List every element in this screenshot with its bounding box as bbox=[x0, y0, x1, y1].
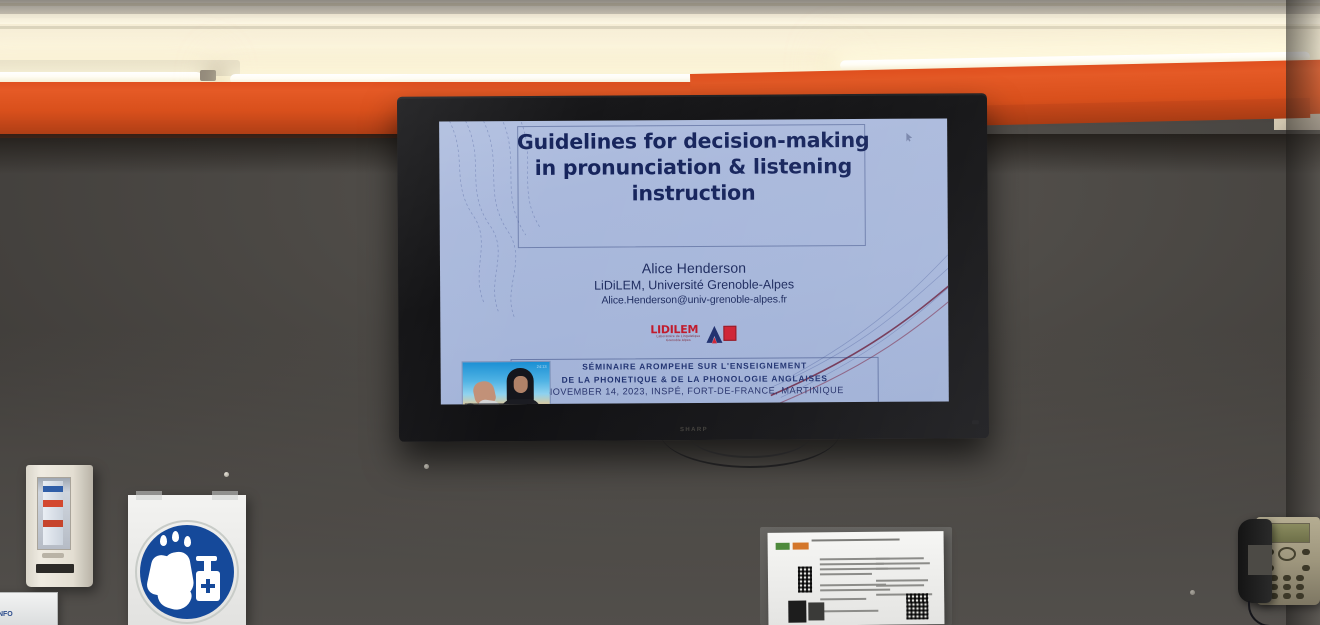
dispenser-drip-slot bbox=[36, 564, 74, 573]
poster-text-line bbox=[876, 579, 928, 581]
phone-navigation-cluster[interactable] bbox=[1278, 547, 1296, 561]
webcam-participant-label: alice henderson bbox=[465, 403, 504, 404]
wall-mounted-television[interactable]: Guidelines for decision-making in pronun… bbox=[397, 93, 989, 442]
poster-thumbnail-1 bbox=[788, 601, 806, 623]
dispenser-label-stripe-red-2 bbox=[43, 520, 63, 527]
poster-qr-code-right bbox=[906, 593, 928, 619]
sign-tape-right bbox=[212, 491, 238, 500]
phone-keypad-key[interactable] bbox=[1296, 575, 1304, 581]
poster-thumbnail-2 bbox=[808, 602, 824, 620]
lidilem-secondary-mark-icon bbox=[723, 326, 736, 341]
poster-text-line bbox=[876, 567, 920, 569]
dispenser-view-window bbox=[37, 477, 71, 550]
poster-text-line bbox=[876, 562, 930, 564]
conference-info: SÉMINAIRE AROMPEHE SUR L'ENSEIGNEMENT DE… bbox=[511, 359, 879, 399]
phone-handset[interactable] bbox=[1238, 519, 1272, 603]
webcam-person-body bbox=[501, 399, 541, 405]
poster-text-line bbox=[820, 563, 884, 565]
ceiling-seam-2 bbox=[0, 26, 1320, 29]
room-scene: Guidelines for decision-making in pronun… bbox=[0, 0, 1320, 625]
dispenser-label-stripe-red bbox=[43, 500, 63, 507]
poster-heading-rule bbox=[812, 539, 900, 542]
tube-cap-left bbox=[200, 70, 216, 81]
sign-blue-disc bbox=[140, 525, 234, 619]
phone-keypad-key[interactable] bbox=[1283, 575, 1291, 581]
tv-ir-receiver-icon bbox=[972, 420, 979, 424]
webcam-video-tile[interactable]: 24:13 alice henderson bbox=[462, 361, 551, 405]
ceiling-edge-lower bbox=[0, 14, 1320, 24]
poster-logo-icon-1 bbox=[776, 543, 790, 550]
soap-cross-icon-horizontal bbox=[201, 584, 215, 588]
phone-softkey[interactable] bbox=[1302, 549, 1310, 555]
wall-screw-2 bbox=[424, 464, 429, 469]
presentation-slide: Guidelines for decision-making in pronun… bbox=[439, 118, 949, 404]
fluorescent-tube-left bbox=[0, 72, 202, 82]
slide-title: Guidelines for decision-making in pronun… bbox=[439, 126, 947, 207]
author-block: Alice Henderson LiDiLEM, Université Gren… bbox=[440, 258, 948, 309]
wall-screw-1 bbox=[224, 472, 229, 477]
water-drop-icon-1 bbox=[160, 535, 167, 546]
desk-phone[interactable] bbox=[1238, 513, 1320, 608]
poster-text-line bbox=[820, 589, 890, 591]
poster-text-line bbox=[876, 584, 924, 586]
poster-text-line bbox=[820, 573, 872, 575]
phone-keypad-key[interactable] bbox=[1283, 584, 1291, 590]
author-email: Alice.Henderson@univ-grenoble-alpes.fr bbox=[440, 291, 948, 309]
lidilem-chevron-icon bbox=[705, 325, 723, 344]
wall-screw-3 bbox=[1190, 590, 1195, 595]
conference-line-3: NOVEMBER 14, 2023, INSPÉ, FORT-DE-FRANCE… bbox=[511, 384, 879, 399]
phone-function-key[interactable] bbox=[1302, 565, 1310, 571]
leaflet-label: INFO bbox=[0, 611, 13, 618]
phone-keypad-key[interactable] bbox=[1296, 593, 1304, 599]
hand-washing-sign bbox=[128, 495, 246, 625]
poster-text-line bbox=[820, 610, 878, 612]
sign-tape-left bbox=[136, 491, 162, 500]
information-poster[interactable] bbox=[768, 531, 945, 625]
phone-handset-grip bbox=[1248, 545, 1272, 575]
webcam-person-face bbox=[514, 376, 528, 393]
poster-logo-icon-2 bbox=[793, 542, 809, 549]
lidilem-subtitle: Laboratoire de LinguistiqueGrenoble Alpe… bbox=[652, 334, 704, 342]
water-drop-icon-3 bbox=[184, 536, 191, 547]
dispenser-label-stripe-blue bbox=[43, 486, 63, 492]
dispenser-nozzle[interactable] bbox=[42, 553, 64, 558]
poster-qr-code-left bbox=[798, 566, 812, 592]
phone-keypad-key[interactable] bbox=[1296, 584, 1304, 590]
poster-text-line bbox=[876, 557, 924, 559]
tv-screen[interactable]: Guidelines for decision-making in pronun… bbox=[439, 118, 949, 404]
webcam-timestamp: 24:13 bbox=[537, 364, 547, 369]
hand-sanitizer-dispenser[interactable] bbox=[26, 465, 93, 587]
water-drop-icon-2 bbox=[172, 531, 179, 542]
poster-text-line bbox=[820, 598, 866, 600]
ceiling-seam-1 bbox=[0, 3, 1320, 6]
phone-keypad-key[interactable] bbox=[1283, 593, 1291, 599]
leaflet-holder[interactable]: INFO bbox=[0, 592, 58, 625]
lidilem-logo: LIDILEM Laboratoire de LinguistiqueGreno… bbox=[650, 323, 738, 348]
